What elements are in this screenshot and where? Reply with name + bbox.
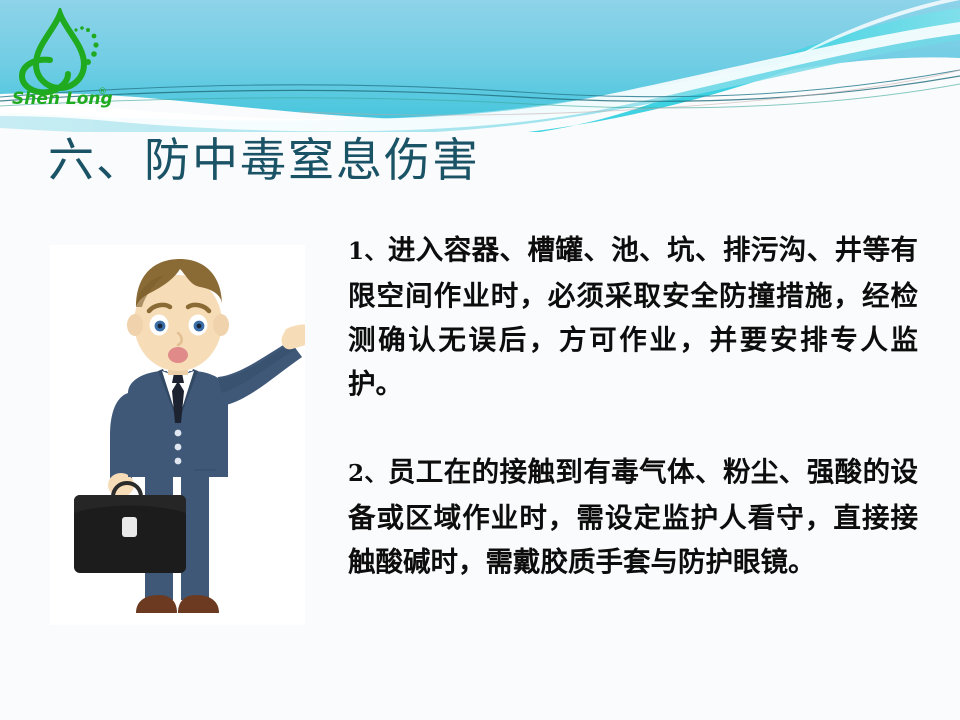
company-logo: Shen Long ® [8,8,116,108]
jacket-button-1 [175,430,182,437]
presentation-slide: Shen Long ® 六、防中毒窒息伤害 [0,0,960,720]
jacket-button-2 [175,444,182,451]
right-ear [213,314,229,336]
mouth [168,347,188,363]
logo-wordmark: Shen Long ® [12,87,113,108]
svg-text:®: ® [98,87,107,97]
jacket-button-3 [175,458,182,465]
left-ear [127,314,143,336]
water-drop-leaf-logo-icon [22,14,99,92]
paragraph-1-number: 1、 [348,238,388,265]
paragraph-1: 1、进入容器、槽罐、池、坑、排污沟、井等有限空间作业时，必须采取安全防撞措施，经… [348,228,918,406]
paragraph-2-text: 员工在的接触到有毒气体、粉尘、强酸的设备或区域作业时，需设定监护人看守，直接接触… [348,456,918,578]
content-body: 1、进入容器、槽罐、池、坑、排污沟、井等有限空间作业时，必须采取安全防撞措施，经… [348,228,918,584]
page-title: 六、防中毒窒息伤害 [48,130,480,190]
paragraph-spacer [348,406,918,450]
briefcase [74,483,186,573]
paragraph-1-text: 进入容器、槽罐、池、坑、排污沟、井等有限空间作业时，必须采取安全防撞措施，经检测… [348,234,918,400]
illustration-image [50,245,305,625]
paragraph-2: 2、员工在的接触到有毒气体、粉尘、强酸的设备或区域作业时，需设定监护人看守，直接… [348,450,918,584]
paragraph-2-number: 2、 [348,460,388,487]
header-wave-banner [0,0,960,132]
